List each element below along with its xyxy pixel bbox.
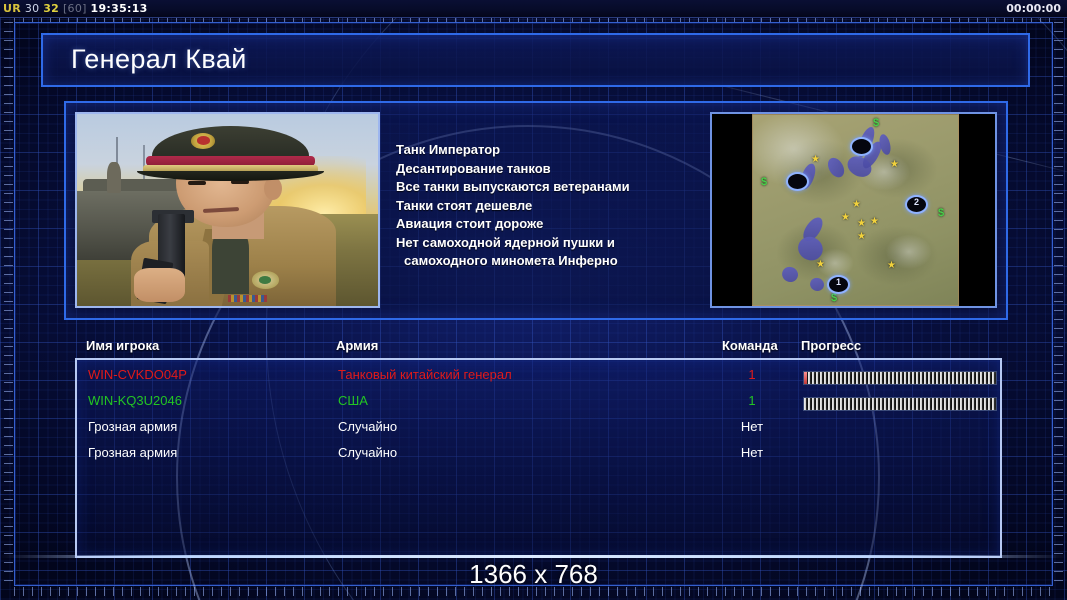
progress-bar xyxy=(803,397,997,411)
player-team[interactable]: Нет xyxy=(724,445,780,460)
ability-line: Нет самоходной ядерной пушки и xyxy=(396,234,696,253)
ability-line: Танк Император xyxy=(396,141,696,160)
player-team[interactable]: 1 xyxy=(724,367,780,382)
player-army[interactable]: США xyxy=(338,393,368,408)
general-info-panel: Танк Император Десантирование танков Все… xyxy=(64,101,1008,320)
main-window: Генерал Квай xyxy=(41,33,1026,565)
player-table-headers: Имя игрока Армия Команда Прогресс xyxy=(86,338,986,358)
header-team: Команда xyxy=(722,338,778,353)
ruler-right xyxy=(1054,22,1063,586)
performance-readout: UR 30 32 [60] 19:35:13 xyxy=(3,0,148,17)
officer-ribbons xyxy=(228,295,267,302)
map-supply-marker: $ xyxy=(761,177,767,188)
stat-bracket: [60] xyxy=(63,2,87,15)
game-screen: UR 30 32 [60] 19:35:13 00:00:00 Генерал … xyxy=(0,0,1067,600)
table-row[interactable]: WIN-CVKDO04P Танковый китайский генерал … xyxy=(88,367,988,391)
map-star: ★ xyxy=(816,260,825,270)
map-supply-marker: $ xyxy=(938,208,944,219)
general-abilities-list: Танк Император Десантирование танков Все… xyxy=(396,141,696,271)
map-supply-marker: $ xyxy=(831,293,837,304)
ability-line: Танки стоят дешевле xyxy=(396,197,696,216)
portrait-background-figure xyxy=(107,162,121,193)
progress-bar xyxy=(803,371,997,385)
ruler-left xyxy=(4,22,13,586)
ruler-bottom xyxy=(14,587,1053,596)
player-name: WIN-KQ3U2046 xyxy=(88,393,182,408)
header-progress: Прогресс xyxy=(801,338,861,353)
stat-value-1: 30 xyxy=(25,2,40,15)
water-blob xyxy=(779,264,800,285)
title-panel: Генерал Квай xyxy=(41,33,1030,87)
map-star: ★ xyxy=(811,155,820,165)
officer-tie xyxy=(212,229,248,294)
player-progress xyxy=(803,397,997,411)
map-neutral-position xyxy=(786,172,809,191)
player-list-panel: WIN-CVKDO04P Танковый китайский генерал … xyxy=(75,358,1002,558)
map-preview[interactable]: ★ ★ ★ ★ ★ ★ ★ ★ ★ $ $ $ $ 1 2 xyxy=(710,112,997,308)
map-star: ★ xyxy=(887,261,896,271)
map-star: ★ xyxy=(890,160,899,170)
session-timer: 00:00:00 xyxy=(1006,0,1061,17)
header-player-name: Имя игрока xyxy=(86,338,159,353)
progress-bar-tip xyxy=(804,372,807,384)
officer-eye-left xyxy=(188,181,206,185)
portrait-image xyxy=(77,114,378,306)
map-supply-marker: $ xyxy=(873,118,879,129)
page-title: Генерал Квай xyxy=(71,44,247,75)
map-start-position[interactable]: 2 xyxy=(905,195,928,214)
ability-line: Десантирование танков xyxy=(396,160,696,179)
player-army[interactable]: Случайно xyxy=(338,445,397,460)
player-name: Грозная армия xyxy=(88,445,177,460)
map-neutral-position xyxy=(850,137,873,156)
stat-value-2: 32 xyxy=(43,2,59,15)
player-name: Грозная армия xyxy=(88,419,177,434)
map-star: ★ xyxy=(870,217,879,227)
officer-cap-emblem xyxy=(191,133,215,148)
player-team[interactable]: 1 xyxy=(724,393,780,408)
header-army: Армия xyxy=(336,338,378,353)
ability-line: Все танки выпускаются ветеранами xyxy=(396,178,696,197)
table-row[interactable]: Грозная армия Случайно Нет xyxy=(88,419,988,443)
general-portrait xyxy=(75,112,380,308)
map-star: ★ xyxy=(857,232,866,242)
system-clock: 19:35:13 xyxy=(91,2,148,15)
player-progress xyxy=(803,371,997,385)
ability-line: Авиация стоит дороже xyxy=(396,215,696,234)
player-army[interactable]: Случайно xyxy=(338,419,397,434)
player-army[interactable]: Танковый китайский генерал xyxy=(338,367,512,382)
top-status-bar: UR 30 32 [60] 19:35:13 00:00:00 xyxy=(0,0,1067,18)
ur-label: UR xyxy=(3,2,21,15)
officer-hand xyxy=(134,268,185,303)
table-row[interactable]: Грозная армия Случайно Нет xyxy=(88,445,988,469)
map-star: ★ xyxy=(852,200,861,210)
map-star: ★ xyxy=(841,213,850,223)
map-star: ★ xyxy=(857,219,866,229)
officer-ear xyxy=(264,177,282,200)
water-blob xyxy=(825,155,848,180)
player-name: WIN-CVKDO04P xyxy=(88,367,187,382)
map-terrain: ★ ★ ★ ★ ★ ★ ★ ★ ★ $ $ $ $ 1 2 xyxy=(752,114,959,306)
map-start-position[interactable]: 1 xyxy=(827,275,850,294)
officer-badge xyxy=(252,271,279,288)
water-blob xyxy=(809,276,827,293)
player-team[interactable]: Нет xyxy=(724,419,780,434)
table-row[interactable]: WIN-KQ3U2046 США 1 xyxy=(88,393,988,417)
ability-line: самоходного миномета Инферно xyxy=(396,252,696,271)
